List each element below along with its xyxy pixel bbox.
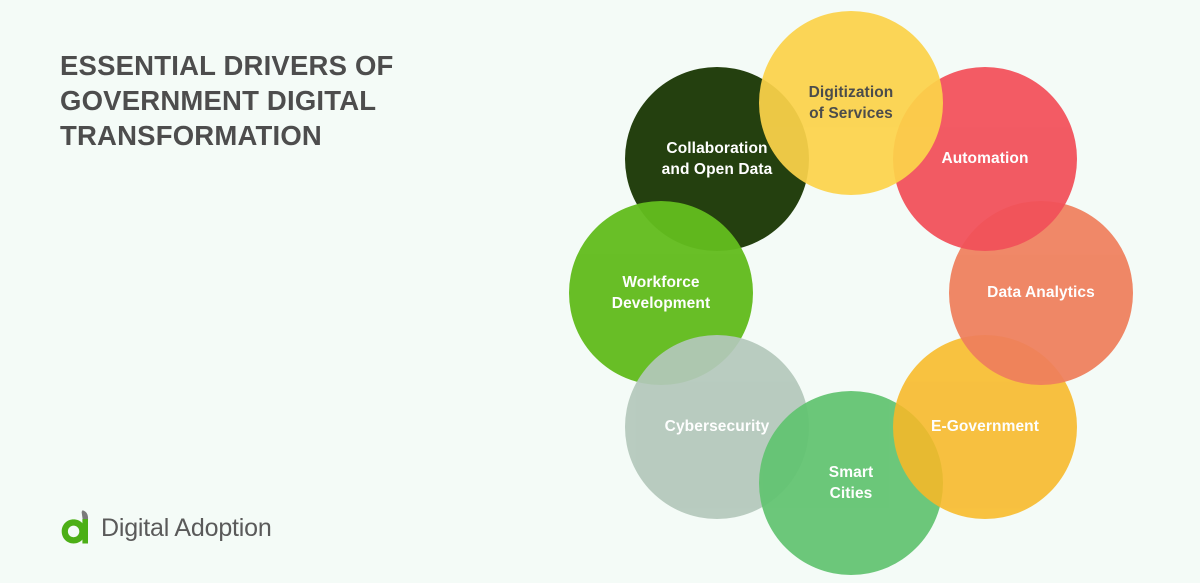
venn-label-collaboration-and-open-data: Collaboration and Open Data [654,138,781,181]
venn-label-cybersecurity: Cybersecurity [657,416,778,437]
venn-label-workforce-development: Workforce Development [604,272,718,315]
digital-adoption-a-logomark-icon [60,509,94,547]
venn-label-digitization-of-services: Digitization of Services [801,82,902,125]
venn-label-smart-cities: Smart Cities [821,462,881,505]
infographic-canvas: ESSENTIAL DRIVERS OF GOVERNMENT DIGITAL … [0,0,1200,583]
venn-diagram: Digitization of ServicesAutomationData A… [0,0,1200,583]
venn-label-e-government: E-Government [923,416,1047,437]
brand-logo: Digital Adoption [60,509,272,547]
venn-label-data-analytics: Data Analytics [979,282,1103,303]
venn-label-automation: Automation [933,148,1036,169]
logo-wordmark: Digital Adoption [101,516,272,541]
venn-circle-digitization-of-services[interactable]: Digitization of Services [759,11,943,195]
